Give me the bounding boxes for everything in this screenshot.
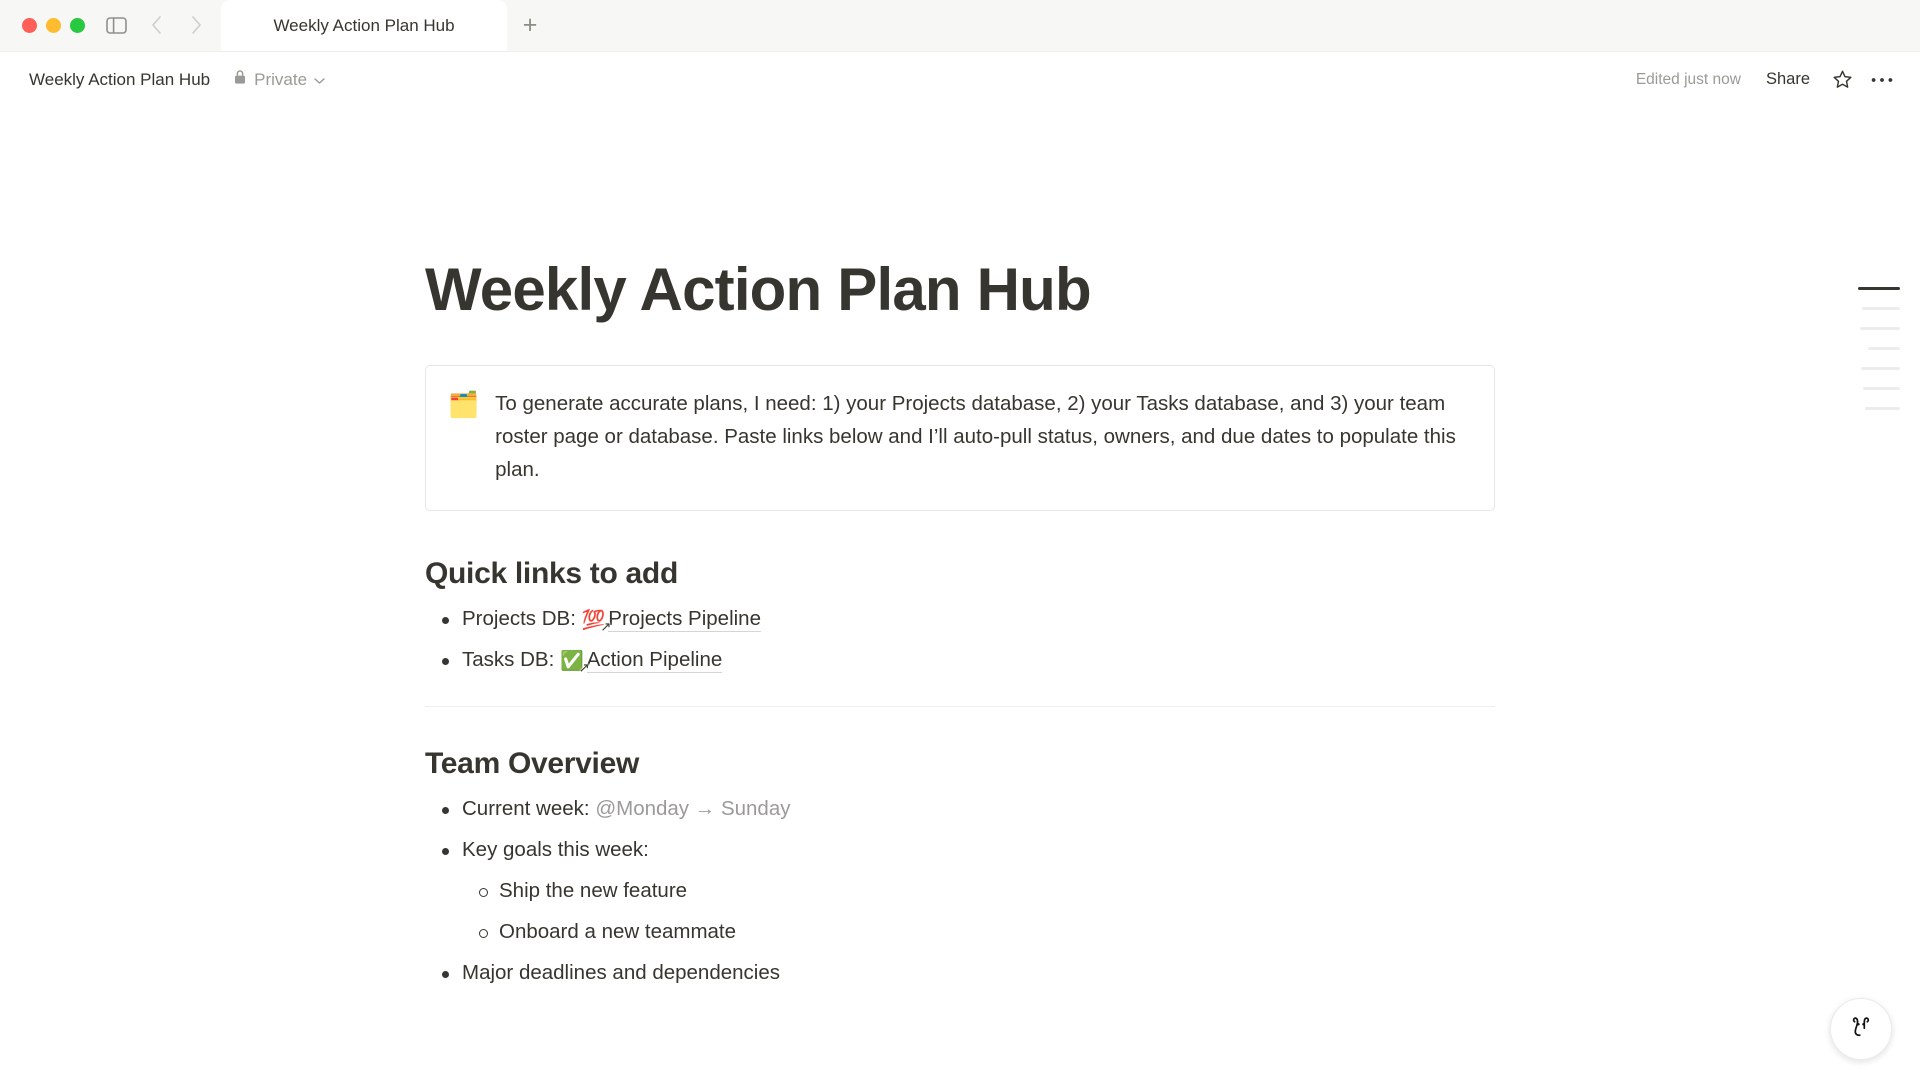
star-icon[interactable] [1826, 63, 1859, 96]
toc-bar[interactable] [1861, 367, 1900, 370]
breadcrumb-bar: Weekly Action Plan Hub Private Edited ju… [0, 52, 1920, 107]
page-content: Weekly Action Plan Hub 🗂️ To generate ac… [425, 107, 1495, 988]
list-item[interactable]: Onboard a new teammate [425, 916, 1495, 948]
key-goals-label: Key goals this week: [462, 838, 649, 861]
table-of-contents-minimap[interactable] [1846, 287, 1900, 410]
card-index-dividers-emoji: 🗂️ [448, 387, 479, 487]
list-item[interactable]: Projects DB: 💯↗Projects Pipeline [425, 603, 1495, 635]
section-heading-team-overview[interactable]: Team Overview [425, 747, 1495, 781]
window-tab-bar: Weekly Action Plan Hub + [0, 0, 1920, 52]
breadcrumb[interactable]: Weekly Action Plan Hub [22, 66, 217, 94]
minimize-window-button[interactable] [46, 18, 61, 33]
list-item[interactable]: Key goals this week: [425, 834, 1495, 866]
section-heading-quick-links[interactable]: Quick links to add [425, 557, 1495, 591]
list-item[interactable]: Ship the new feature [425, 875, 1495, 907]
window-nav-icons [99, 0, 221, 51]
new-tab-button[interactable]: + [507, 0, 553, 51]
quick-links-list: Projects DB: 💯↗Projects Pipeline Tasks D… [425, 603, 1495, 677]
toc-bar[interactable] [1868, 347, 1900, 350]
close-window-button[interactable] [22, 18, 37, 33]
privacy-label: Private [254, 70, 307, 90]
chevron-down-icon [314, 70, 325, 90]
callout-text: To generate accurate plans, I need: 1) y… [495, 387, 1472, 487]
list-item-prefix: Projects DB: [462, 607, 582, 630]
chevron-left-icon[interactable] [139, 8, 173, 42]
lock-icon [233, 69, 247, 90]
privacy-selector[interactable]: Private [225, 65, 333, 94]
list-item[interactable]: Current week: @Monday → Sunday [425, 793, 1495, 825]
callout-block[interactable]: 🗂️ To generate accurate plans, I need: 1… [425, 365, 1495, 511]
sidebar-toggle-icon[interactable] [99, 8, 133, 42]
check-mark-emoji: ✅↗ [560, 647, 584, 676]
ellipsis-icon[interactable] [1865, 63, 1898, 96]
list-item-prefix: Tasks DB: [462, 648, 560, 671]
browser-tab[interactable]: Weekly Action Plan Hub [221, 0, 507, 51]
list-item[interactable]: Tasks DB: ✅↗Action Pipeline [425, 644, 1495, 676]
page-canvas: Weekly Action Plan Hub 🗂️ To generate ac… [0, 107, 1920, 1080]
toc-bar[interactable] [1865, 407, 1900, 410]
list-item-text: Major deadlines and dependencies [462, 961, 780, 984]
toc-bar[interactable] [1858, 287, 1900, 290]
page-title[interactable]: Weekly Action Plan Hub [425, 257, 1495, 323]
toc-bar[interactable] [1862, 307, 1900, 310]
divider [425, 706, 1495, 707]
maximize-window-button[interactable] [70, 18, 85, 33]
topbar-actions: Edited just now Share [1627, 63, 1898, 96]
notion-ai-button[interactable] [1830, 998, 1892, 1060]
arrow-up-right-icon: ↗ [600, 617, 611, 637]
arrow-up-right-icon: ↗ [579, 658, 590, 678]
toc-bar[interactable] [1860, 327, 1900, 330]
list-item-partially-visible[interactable]: Major deadlines and dependencies [425, 957, 1495, 989]
page-link-action-pipeline[interactable]: Action Pipeline [587, 648, 723, 673]
tab-label: Weekly Action Plan Hub [273, 16, 454, 36]
team-overview-list: Current week: @Monday → Sunday Key goals… [425, 793, 1495, 947]
chevron-right-icon[interactable] [179, 8, 213, 42]
key-goal-text: Ship the new feature [499, 879, 687, 902]
share-button[interactable]: Share [1756, 65, 1820, 94]
traffic-lights [0, 0, 99, 51]
hundred-points-emoji: 💯↗ [582, 606, 606, 635]
date-mention[interactable]: @Monday → Sunday [595, 797, 790, 820]
page-link-projects-pipeline[interactable]: Projects Pipeline [608, 607, 761, 632]
notion-ai-face-icon [1846, 1012, 1876, 1047]
current-week-label: Current week: [462, 797, 595, 820]
edited-status: Edited just now [1627, 66, 1750, 94]
key-goal-text: Onboard a new teammate [499, 920, 736, 943]
toc-bar[interactable] [1863, 387, 1900, 390]
